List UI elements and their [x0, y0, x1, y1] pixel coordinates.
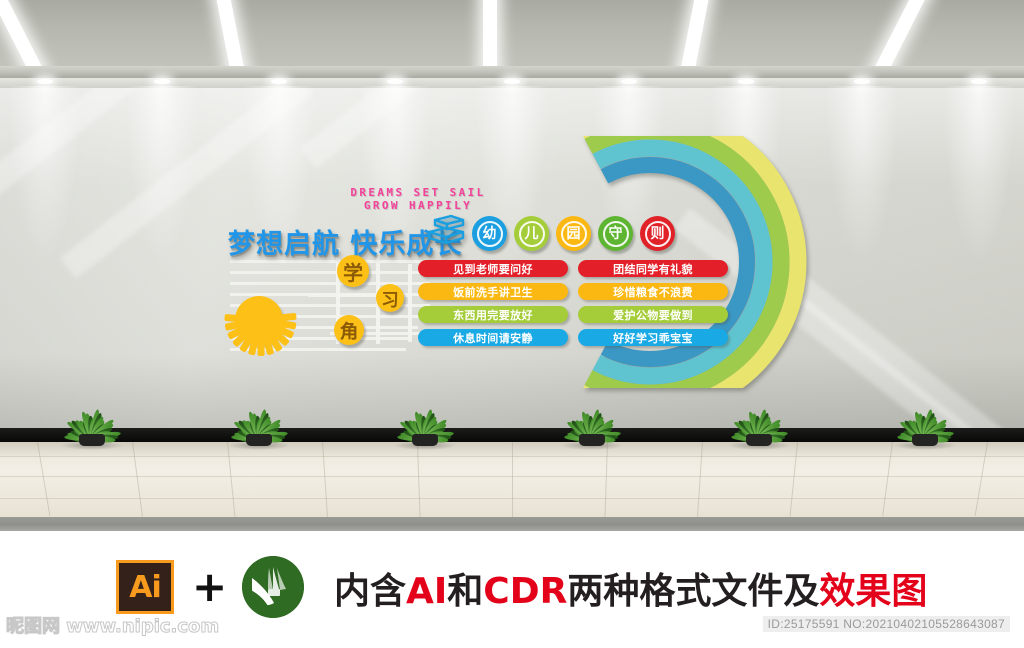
plant-pot	[79, 434, 105, 446]
ceiling-downlight	[971, 79, 987, 84]
corner-char-circle: 习	[376, 284, 404, 312]
title-circle-园: 园	[556, 216, 591, 251]
ceiling-downlight	[154, 79, 170, 84]
wall-graphic: 梦想启航 快乐成长 DREAMS SET SAIL GROW HAPPILY 学…	[210, 136, 820, 406]
rule-pill: 好好学习乖宝宝	[578, 329, 728, 346]
asset-id-tag: ID:25175591 NO:20210402105528643087	[763, 616, 1010, 632]
title-circle-char: 园	[561, 221, 587, 247]
ceiling-light-strip	[0, 0, 45, 68]
ceiling-soffit	[0, 66, 1024, 78]
title-circle-char: 幼	[477, 221, 503, 247]
plant-pot	[579, 434, 605, 446]
corner-char-circle: 角	[334, 315, 364, 345]
floor-plank-seam	[37, 442, 50, 516]
floor-plank-seam	[512, 442, 513, 517]
banner-text-prefix: 内含	[334, 571, 406, 612]
banner-text-cdr: CDR	[483, 571, 567, 612]
rule-pill: 休息时间请安静	[418, 329, 568, 346]
floor-plank-seam	[227, 442, 235, 517]
plant-pot	[412, 434, 438, 446]
illustrator-ai-badge: Ai	[116, 560, 174, 614]
title-circle-则: 则	[640, 216, 675, 251]
rule-pill: 饭前洗手讲卫生	[418, 283, 568, 300]
banner-text-preview: 效果图	[819, 571, 927, 612]
floor-plank-seam	[975, 442, 988, 516]
floor-plank-seam	[605, 442, 608, 517]
decor-horizontal-line	[230, 282, 430, 285]
coreldraw-logo	[242, 556, 304, 618]
plant-pot	[912, 434, 938, 446]
banner-text-ai: AI	[406, 571, 447, 612]
ceiling-light-strip	[214, 0, 247, 68]
floor-band	[0, 498, 1024, 499]
rule-pill: 团结同学有礼貌	[578, 260, 728, 277]
floor-band	[0, 456, 1024, 457]
decor-vertical-line	[408, 264, 412, 342]
plant-pot	[746, 434, 772, 446]
floor-plank-seam	[882, 442, 893, 516]
floor-plank-seam	[322, 442, 328, 517]
title-circle-守: 守	[598, 216, 633, 251]
ceiling-light-strip	[483, 0, 497, 68]
plus-icon: +	[192, 566, 227, 608]
subhead-text: DREAMS SET SAIL GROW HAPPILY	[318, 186, 518, 212]
title-circle-row: 幼儿园守则	[472, 216, 675, 251]
title-circle-char: 儿	[519, 221, 545, 247]
baseboard	[0, 428, 1024, 442]
site-watermark: 昵图网 www.nipic.com	[6, 612, 219, 638]
ceiling-downlight	[271, 79, 287, 84]
room-render-scene: 梦想启航 快乐成长 DREAMS SET SAIL GROW HAPPILY 学…	[0, 0, 1024, 531]
render-bottom-bar	[0, 517, 1024, 531]
title-circle-儿: 儿	[514, 216, 549, 251]
plant-pot	[246, 434, 272, 446]
rules-list: 见到老师要问好团结同学有礼貌饭前洗手讲卫生珍惜粮食不浪费东西用完要放好爱护公物要…	[418, 260, 728, 346]
ceiling-downlight	[738, 79, 754, 84]
ceiling-downlight	[621, 79, 637, 84]
rule-pill: 见到老师要问好	[418, 260, 568, 277]
potted-plant	[55, 394, 129, 448]
ceiling-light-strip	[678, 0, 711, 68]
floor	[0, 442, 1024, 517]
ceiling-downlight	[504, 79, 520, 84]
banner-text-mid1: 和	[447, 571, 483, 612]
title-circle-幼: 幼	[472, 216, 507, 251]
floor-plank-seam	[697, 442, 703, 517]
subhead-line-1: DREAMS SET SAIL	[318, 186, 518, 199]
ceiling-downlight	[37, 79, 53, 84]
subhead-line-2: GROW HAPPILY	[318, 199, 518, 212]
floor-plank-seam	[132, 442, 143, 516]
banner-headline: 内含AI和CDR两种格式文件及效果图	[334, 562, 927, 614]
floor-plank-seam	[417, 442, 420, 517]
title-circle-char: 则	[645, 221, 671, 247]
books-icon	[425, 211, 467, 247]
floor-plank-seam	[790, 442, 798, 517]
potted-plant	[888, 394, 962, 448]
corner-char-circle: 学	[337, 255, 369, 287]
ceiling	[0, 0, 1024, 68]
banner-text-mid2: 两种格式文件及	[567, 571, 819, 612]
ceiling-light-strip	[873, 0, 931, 68]
title-circle-char: 守	[603, 221, 629, 247]
wall-reflection-streak	[0, 88, 216, 228]
rule-pill: 东西用完要放好	[418, 306, 568, 323]
rule-pill: 珍惜粮食不浪费	[578, 283, 728, 300]
rule-pill: 爱护公物要做到	[578, 306, 728, 323]
floor-band	[0, 476, 1024, 477]
decor-horizontal-line	[230, 271, 430, 274]
